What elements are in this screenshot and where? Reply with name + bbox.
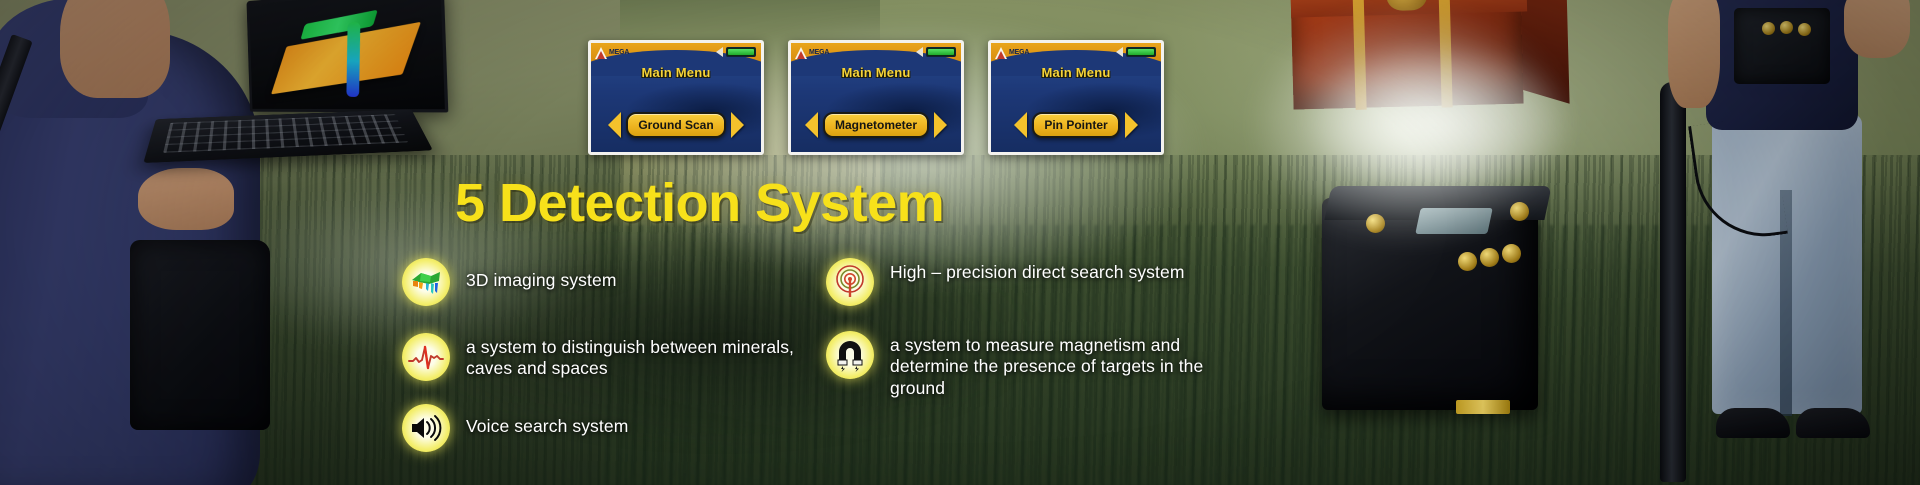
panel-title: Main Menu xyxy=(991,65,1161,80)
mode-button-ground-scan[interactable]: Ground Scan xyxy=(626,112,725,138)
brand-logo: MEGA xyxy=(595,45,641,60)
status-indicators xyxy=(716,47,756,57)
speaker-icon xyxy=(716,47,723,57)
feature-item: a system to measure magnetism and determ… xyxy=(826,331,1246,399)
feature-label: a system to measure magnetism and determ… xyxy=(890,331,1246,399)
prev-mode-arrow-icon[interactable] xyxy=(608,112,621,138)
panel-selector-row: Pin Pointer xyxy=(991,112,1161,138)
brand-logo: MEGA xyxy=(795,45,841,60)
feature-list-left: 3D imaging system a system to distinguis… xyxy=(402,258,802,468)
panel-title: Main Menu xyxy=(791,65,961,80)
feature-item: High – precision direct search system xyxy=(826,258,1246,306)
feature-label: a system to distinguish between minerals… xyxy=(466,333,802,380)
panel-selector-row: Magnetometer xyxy=(791,112,961,138)
brand-logo-label: MEGA xyxy=(609,49,629,56)
prev-mode-arrow-icon[interactable] xyxy=(805,112,818,138)
next-mode-arrow-icon[interactable] xyxy=(934,112,947,138)
speaker-icon xyxy=(916,47,923,57)
device-menu-panels: MEGA Main Menu Ground Scan MEGA xyxy=(588,40,1164,155)
battery-icon xyxy=(1126,47,1156,57)
menu-panel-magnetometer[interactable]: MEGA Main Menu Magnetometer xyxy=(788,40,964,155)
terrain-3d-scan-icon xyxy=(402,258,450,306)
feature-item: a system to distinguish between minerals… xyxy=(402,333,802,381)
battery-level-fill xyxy=(1128,49,1154,55)
next-mode-arrow-icon[interactable] xyxy=(1125,112,1138,138)
mode-button-magnetometer[interactable]: Magnetometer xyxy=(823,112,929,138)
panel-selector-row: Ground Scan xyxy=(591,112,761,138)
battery-icon xyxy=(726,47,756,57)
pulse-waveform-icon xyxy=(402,333,450,381)
brand-logo-label: MEGA xyxy=(809,49,829,56)
menu-panel-pin-pointer[interactable]: MEGA Main Menu Pin Pointer xyxy=(988,40,1164,155)
status-indicators xyxy=(1116,47,1156,57)
mode-button-pin-pointer[interactable]: Pin Pointer xyxy=(1032,112,1119,138)
pyramid-icon xyxy=(795,47,807,59)
feature-item: 3D imaging system xyxy=(402,258,802,306)
next-mode-arrow-icon[interactable] xyxy=(731,112,744,138)
speaker-sound-icon xyxy=(402,404,450,452)
battery-level-fill xyxy=(728,49,754,55)
promo-banner: MEGA Main Menu Ground Scan MEGA xyxy=(0,0,1920,485)
pyramid-icon xyxy=(595,47,607,59)
pyramid-icon xyxy=(995,47,1007,59)
feature-label: 3D imaging system xyxy=(466,258,617,291)
horseshoe-magnet-icon xyxy=(826,331,874,379)
battery-level-fill xyxy=(928,49,954,55)
brand-logo: MEGA xyxy=(995,45,1041,60)
feature-label: High – precision direct search system xyxy=(890,258,1185,283)
battery-icon xyxy=(926,47,956,57)
prev-mode-arrow-icon[interactable] xyxy=(1014,112,1027,138)
brand-logo-label: MEGA xyxy=(1009,49,1029,56)
feature-label: Voice search system xyxy=(466,404,628,437)
status-indicators xyxy=(916,47,956,57)
menu-panel-ground-scan[interactable]: MEGA Main Menu Ground Scan xyxy=(588,40,764,155)
panel-title: Main Menu xyxy=(591,65,761,80)
headline-title: 5 Detection System xyxy=(455,172,944,234)
feature-list-right: High – precision direct search system a … xyxy=(826,258,1246,415)
feature-item: Voice search system xyxy=(402,404,802,452)
speaker-icon xyxy=(1116,47,1123,57)
antenna-signal-icon xyxy=(826,258,874,306)
